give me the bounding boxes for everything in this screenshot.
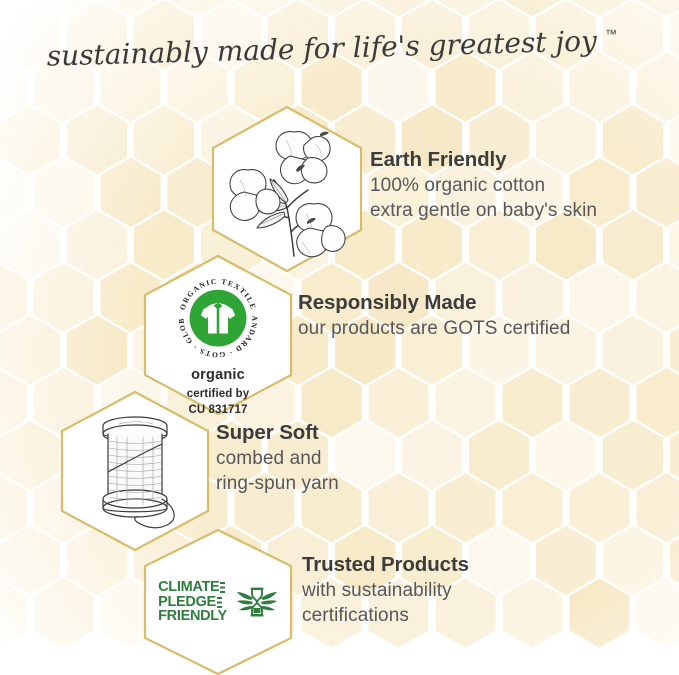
feature-text-block: Responsibly Made our products are GOTS c… <box>298 291 570 342</box>
cpf-line-1: CLIMATE <box>158 580 219 595</box>
feature-line: 100% organic cotton <box>370 174 597 198</box>
feature-trusted-products: CLIMATE PLEDGE FRIENDLY <box>140 527 679 675</box>
winged-hourglass-icon <box>236 583 278 621</box>
feature-line: ring-spun yarn <box>216 472 339 496</box>
cpf-line-2: PLEDGE <box>158 595 216 610</box>
gots-seal-icon: ORGANIC TEXTILE STANDARD · GOTS · GLOBAL <box>169 273 267 363</box>
feature-line: our products are GOTS certified <box>298 317 570 341</box>
promotional-infographic: sustainably made for life's greatest joy… <box>0 0 679 675</box>
feature-title: Earth Friendly <box>370 148 597 172</box>
feature-title: Super Soft <box>216 421 339 445</box>
feature-line: certifications <box>302 604 469 628</box>
feature-earth-friendly: Earth Friendly 100% organic cotton extra… <box>208 104 679 274</box>
feature-title: Trusted Products <box>302 553 469 577</box>
feature-line: extra gentle on baby's skin <box>370 199 597 223</box>
feature-line: with sustainability <box>302 579 469 603</box>
cotton-boll-sketch-icon <box>208 104 366 274</box>
feature-text-block: Super Soft combed and ring-spun yarn <box>216 421 339 496</box>
feature-title: Responsibly Made <box>298 291 570 315</box>
feature-text-block: Trusted Products with sustainability cer… <box>302 553 469 628</box>
cpf-bar-mark-2 <box>217 597 222 608</box>
cpf-bar-mark-1 <box>220 582 225 593</box>
climate-pledge-friendly-badge: CLIMATE PLEDGE FRIENDLY <box>140 527 296 675</box>
cpf-line-3: FRIENDLY <box>158 609 227 624</box>
feature-line: combed and <box>216 447 339 471</box>
feature-text-block: Earth Friendly 100% organic cotton extra… <box>370 148 597 223</box>
gots-organic-label: organic <box>191 367 245 383</box>
